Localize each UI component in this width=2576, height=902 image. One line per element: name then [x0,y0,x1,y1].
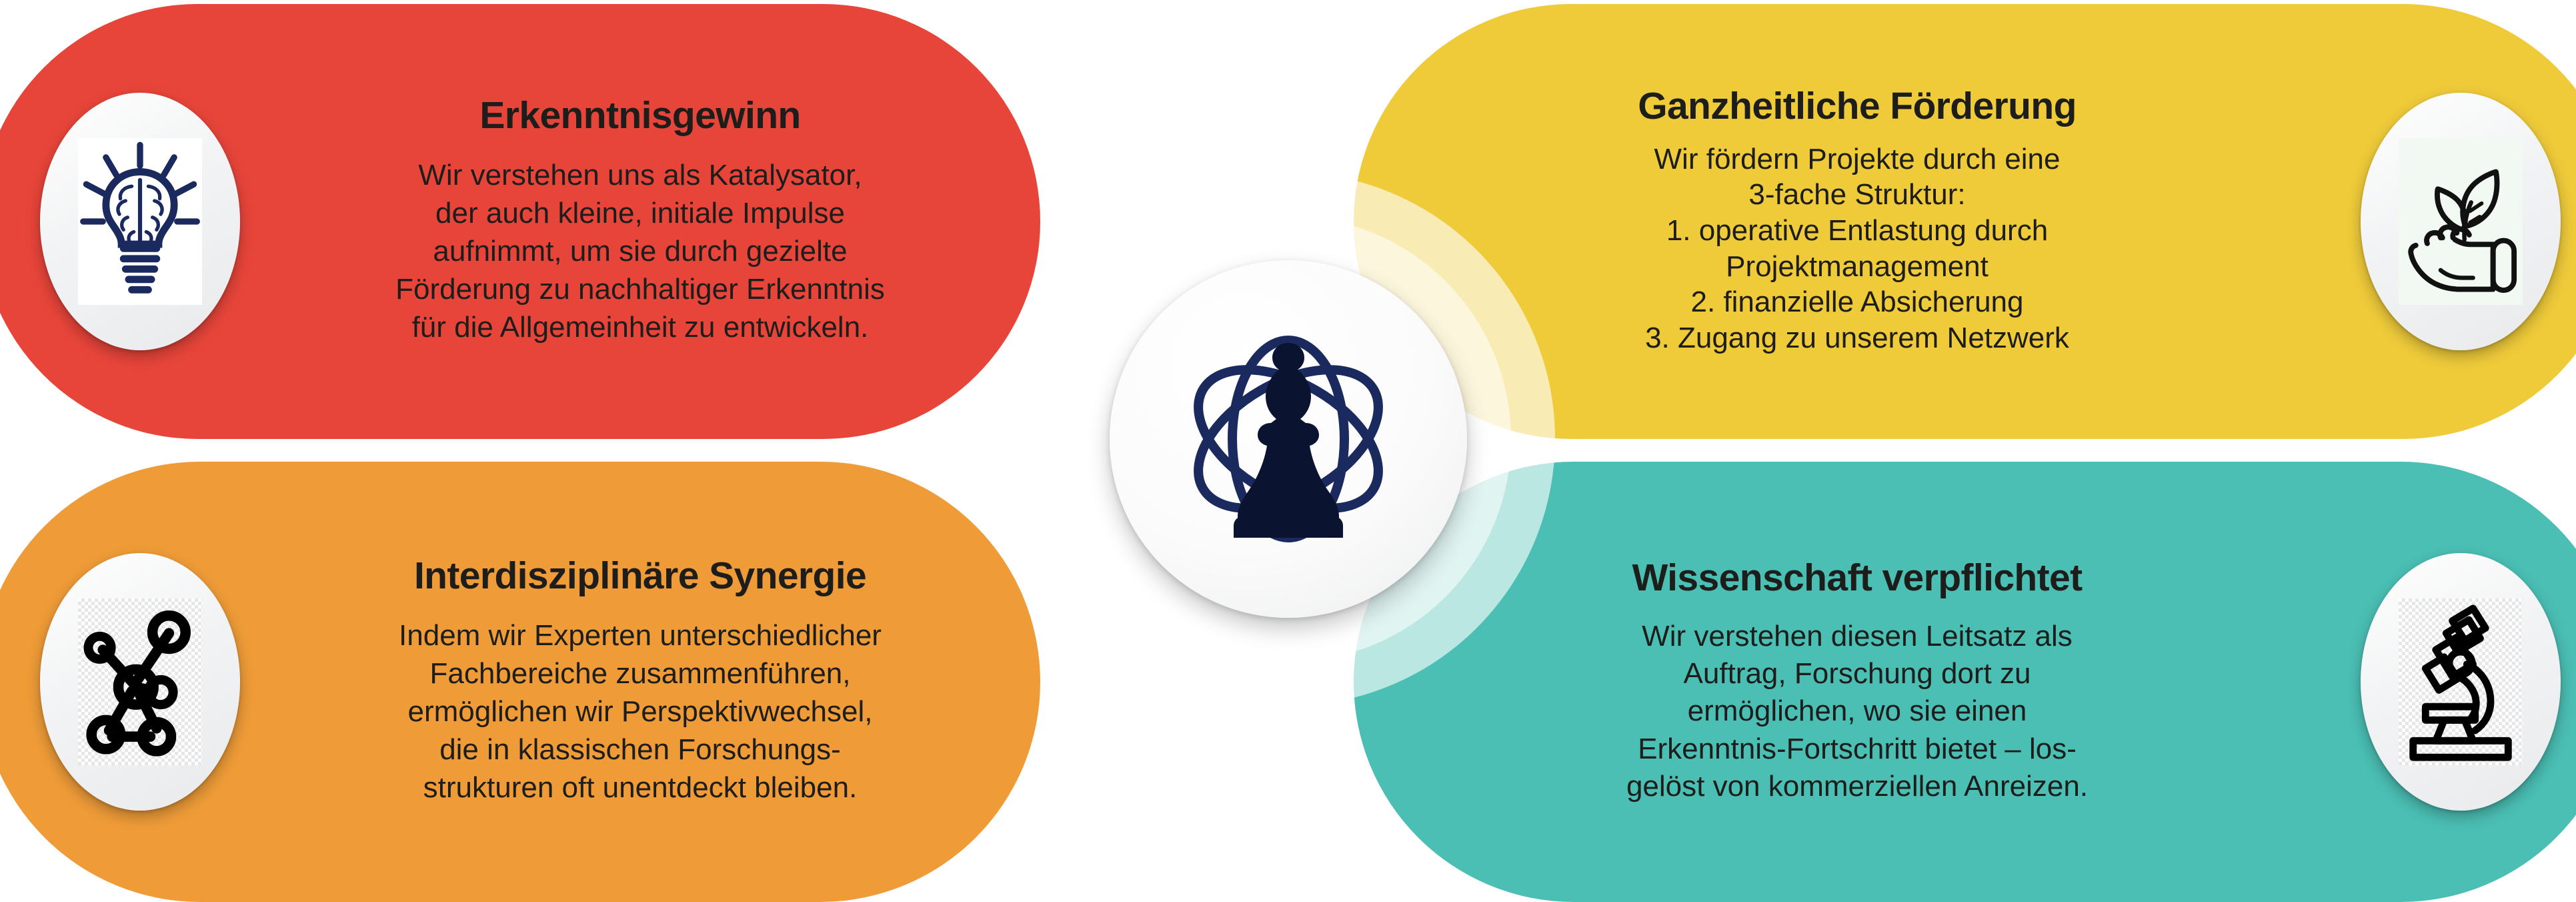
card-title: Ganzheitliche Förderung [1380,87,2334,126]
card-body: Wir verstehen uns als Katalysator, der a… [267,156,1014,347]
card-interdisziplinaere-synergie[interactable]: Interdisziplinäre Synergie Indem wir Exp… [0,462,1040,902]
medallion-wissenschaft [2361,553,2561,811]
medallion-erkenntnisgewinn [40,93,240,350]
text-wissenschaft: Wissenschaft verpflichtet Wir verstehen … [1354,558,2361,806]
card-title: Wissenschaft verpflichtet [1380,558,2334,598]
card-title: Interdisziplinäre Synergie [267,556,1014,596]
infographic-board: Erkenntnisgewinn Wir verstehen uns als K… [0,0,2576,891]
text-foerderung: Ganzheitliche Förderung Wir fördern Proj… [1354,87,2361,356]
medallion-foerderung [2361,93,2561,350]
medallion-synergie [40,553,240,811]
hand-holding-leaves-icon [2399,138,2523,305]
card-body: Wir fördern Projekte durch eine 3-fache … [1380,141,2334,356]
card-erkenntnisgewinn[interactable]: Erkenntnisgewinn Wir verstehen uns als K… [0,4,1040,439]
card-body: Indem wir Experten unterschiedlicher Fac… [267,616,1014,807]
card-ganzheitliche-foerderung[interactable]: Ganzheitliche Förderung Wir fördern Proj… [1354,4,2576,439]
brain-lightbulb-icon [78,138,202,305]
card-body: Wir verstehen diesen Leitsatz als Auftra… [1380,618,2334,806]
card-wissenschaft-verpflichtet[interactable]: Wissenschaft verpflichtet Wir verstehen … [1354,462,2576,902]
text-erkenntnisgewinn: Erkenntnisgewinn Wir verstehen uns als K… [240,96,1040,346]
card-title: Erkenntnisgewinn [267,96,1014,135]
network-nodes-icon [78,598,202,765]
microscope-icon [2399,598,2523,765]
text-synergie: Interdisziplinäre Synergie Indem wir Exp… [240,556,1040,807]
